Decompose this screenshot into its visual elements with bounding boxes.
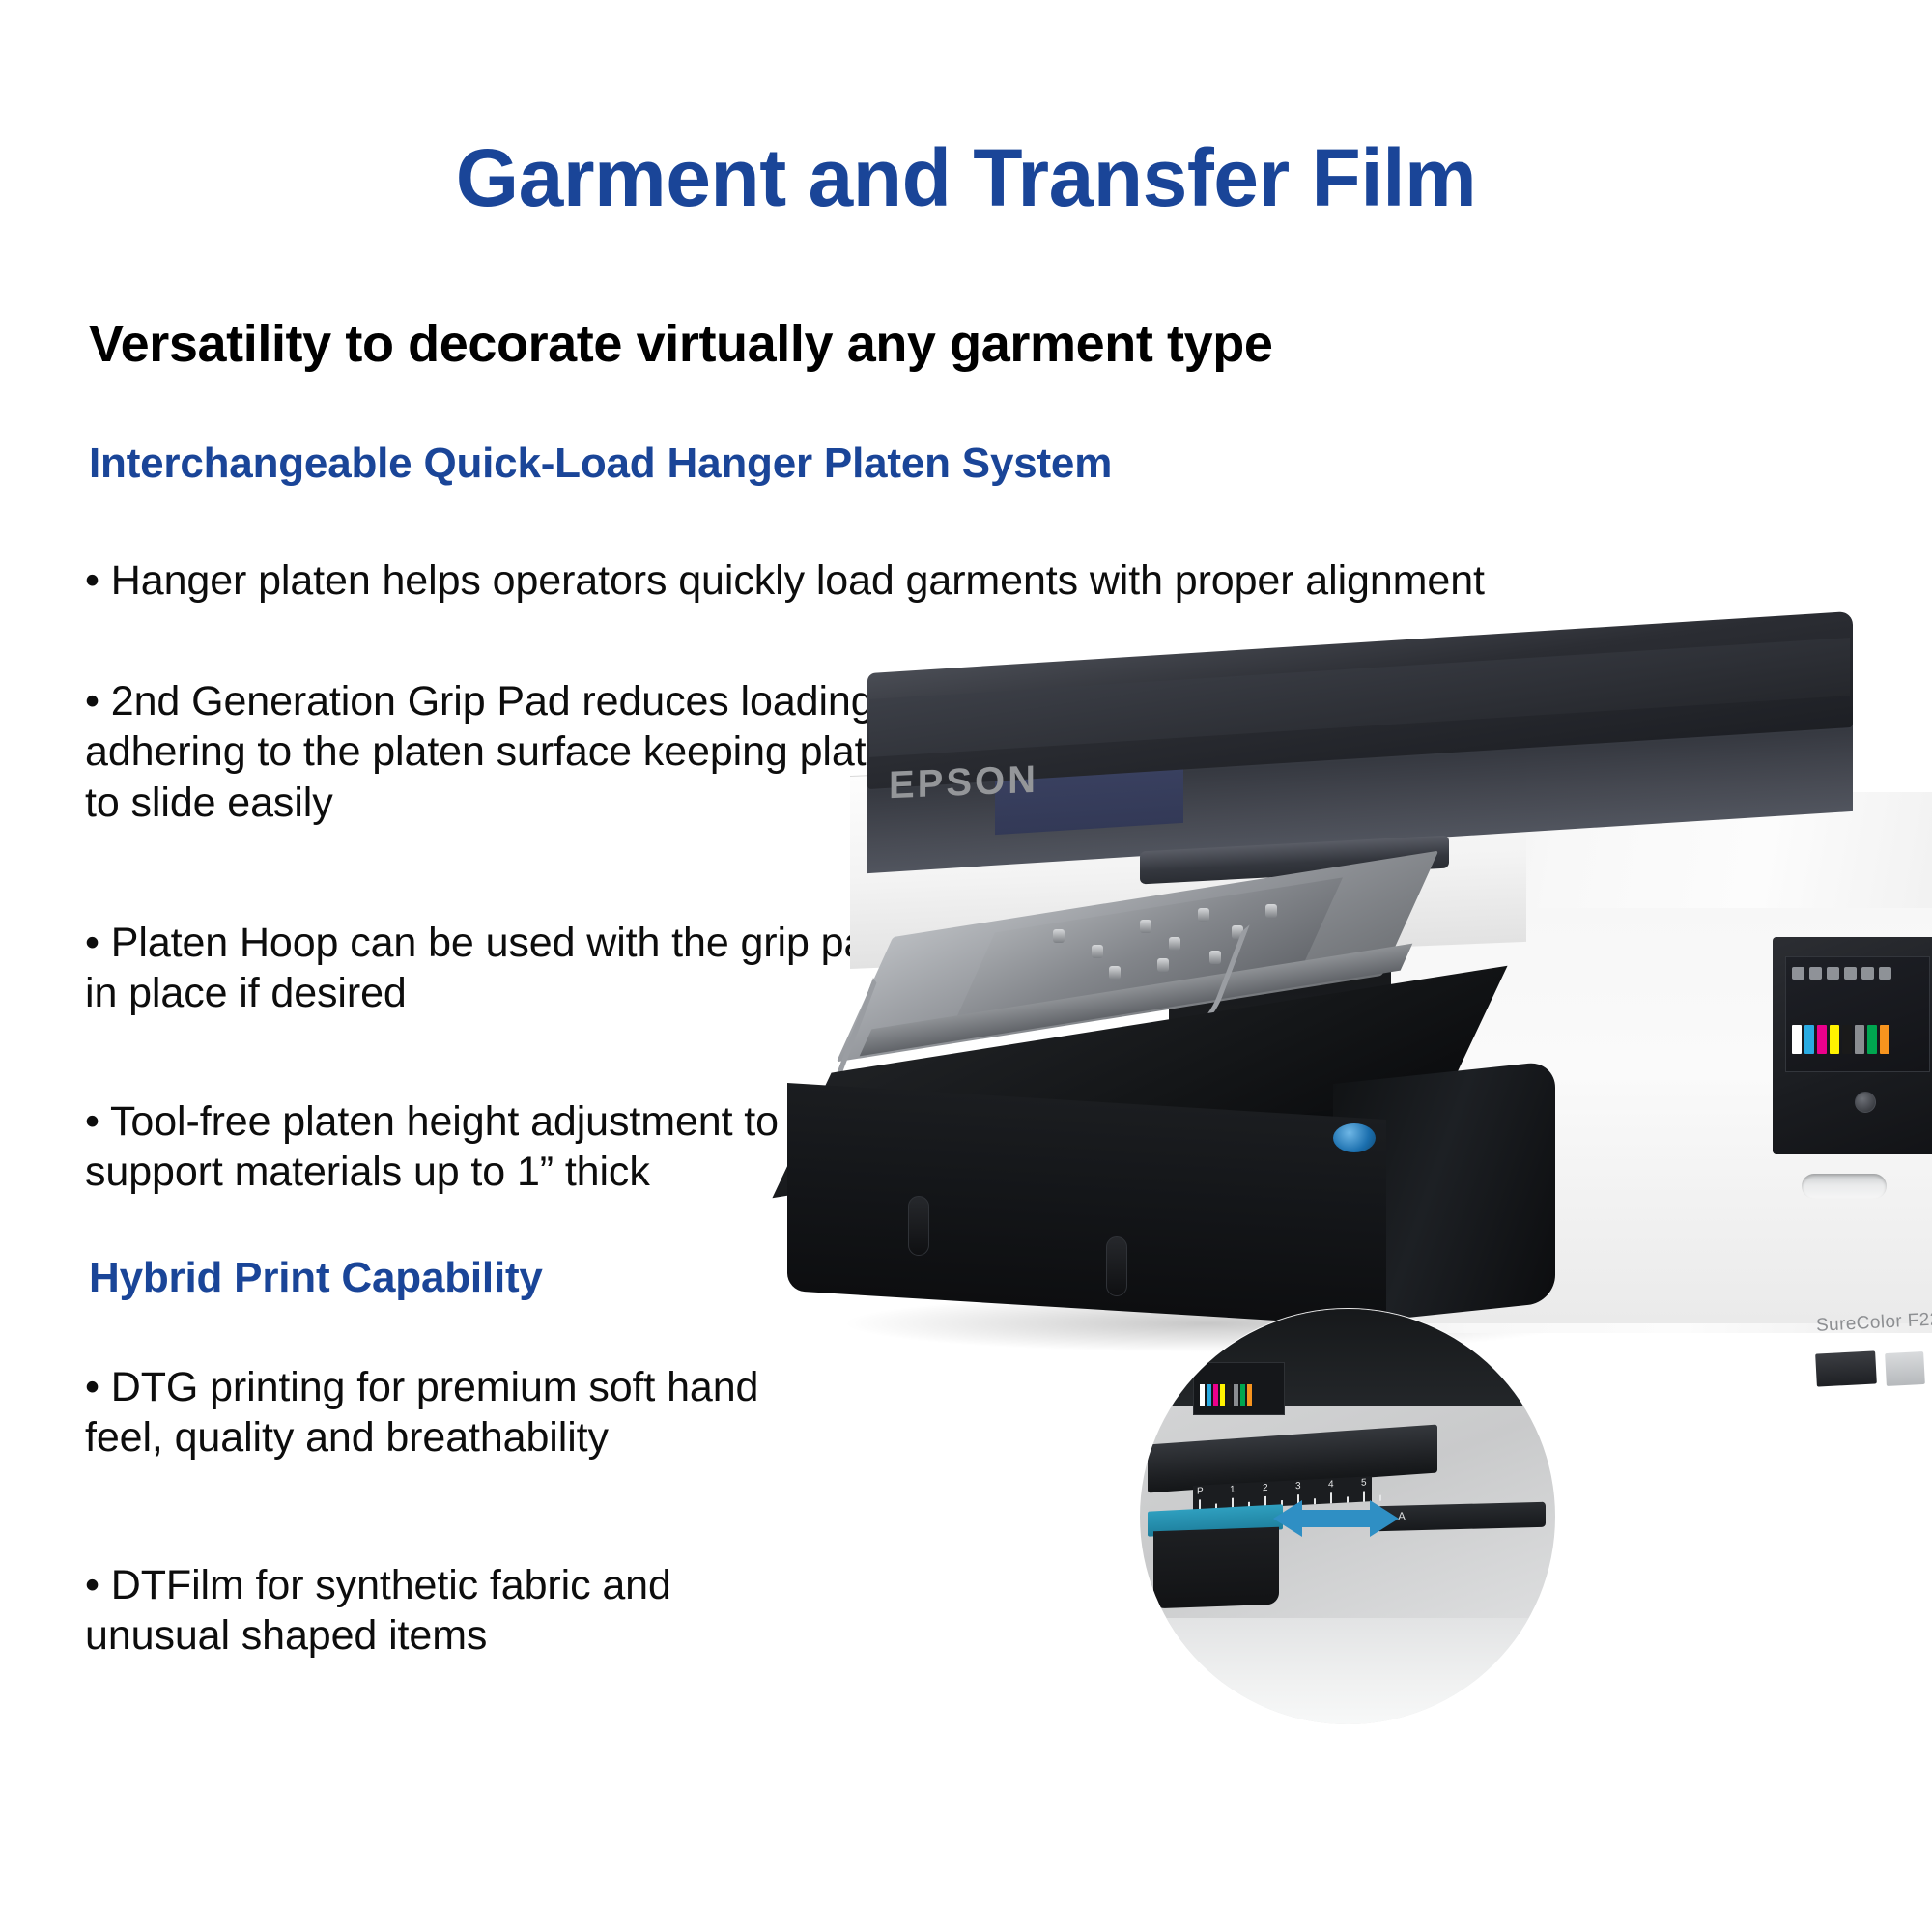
bullet-grip-pad: • 2nd Generation Grip Pad reduces loadin… — [85, 676, 1341, 828]
scale-tick — [1264, 1496, 1266, 1507]
inset-platen-plate — [1148, 1425, 1437, 1493]
ink-level-bar — [1207, 1384, 1211, 1406]
scale-label: 5 — [1361, 1477, 1367, 1488]
bullet-line: • Hanger platen helps operators quickly … — [85, 555, 1457, 606]
panel-icon — [1844, 967, 1857, 980]
certification-badge-b — [1885, 1351, 1925, 1386]
bullet-line: support materials up to 1” thick — [85, 1147, 1051, 1197]
panel-icon — [1792, 967, 1804, 980]
platen-height-detail-inset: P12345 A — [1140, 1309, 1555, 1724]
ink-level-bar — [1804, 1025, 1814, 1054]
bullet-line: • Tool-free platen height adjustment to — [85, 1096, 1051, 1147]
bullet-line: to slide easily — [85, 778, 1341, 828]
bullet-line: • Platen Hoop can be used with the grip … — [85, 918, 1109, 968]
panel-icon — [1861, 967, 1874, 980]
ink-level-bar — [1817, 1025, 1827, 1054]
inset-ink-bars — [1200, 1384, 1252, 1406]
bullet-height-adjustment: • Tool-free platen height adjustment to … — [85, 1096, 1051, 1198]
inset-platen-post — [1153, 1527, 1279, 1609]
bullet-line: in place if desired — [85, 968, 1109, 1018]
bullet-line: • DTG printing for premium soft hand — [85, 1362, 974, 1412]
printer-lid-handle[interactable] — [1140, 836, 1449, 885]
printer-model-label: SureColor F2270 — [1816, 1308, 1932, 1337]
printer-tray-right — [1333, 1061, 1555, 1325]
scale-tick — [1199, 1499, 1201, 1510]
floor-shadow — [840, 1294, 1575, 1352]
bullet-hanger-platen: • Hanger platen helps operators quickly … — [85, 555, 1457, 606]
section-heading-hybrid: Hybrid Print Capability — [89, 1254, 543, 1302]
inset-control-screen — [1193, 1362, 1285, 1415]
bullet-line: • DTFilm for synthetic fabric and — [85, 1560, 954, 1610]
scale-tick-minor — [1347, 1496, 1349, 1502]
inset-lever-label: A — [1398, 1510, 1406, 1523]
scale-tick-minor — [1379, 1495, 1381, 1501]
bullet-platen-hoop: • Platen Hoop can be used with the grip … — [85, 918, 1109, 1019]
bullet-dtfilm: • DTFilm for synthetic fabric and unusua… — [85, 1560, 954, 1662]
control-panel-touchscreen[interactable] — [1785, 956, 1930, 1072]
panel-icon — [1809, 967, 1822, 980]
inset-grip-pad — [1148, 1504, 1283, 1536]
ink-level-bar — [1842, 1025, 1852, 1054]
panel-icon — [1827, 967, 1839, 980]
ink-level-bar — [1855, 1025, 1864, 1054]
slide-canvas: Garment and Transfer Film Versatility to… — [0, 0, 1932, 1932]
control-panel-knob[interactable] — [1855, 1092, 1876, 1113]
platen-bolt — [1209, 951, 1221, 964]
inset-adjust-lever[interactable]: A — [1377, 1502, 1546, 1532]
ink-level-bar — [1830, 1025, 1839, 1054]
scale-label: P — [1197, 1486, 1204, 1496]
bullet-line: • 2nd Generation Grip Pad reduces loadin… — [85, 676, 1341, 726]
scale-label: 4 — [1328, 1479, 1334, 1490]
ink-level-bar — [1247, 1384, 1252, 1406]
scale-tick — [1363, 1492, 1365, 1502]
bullet-dtg-printing: • DTG printing for premium soft hand fee… — [85, 1362, 974, 1463]
scale-tick — [1330, 1492, 1332, 1503]
inset-height-scale: P12345 — [1193, 1476, 1372, 1511]
panel-icon — [1879, 967, 1891, 980]
ink-level-bar — [1880, 1025, 1889, 1054]
platen-height-knob[interactable] — [1333, 1123, 1376, 1152]
bullet-line: unusual shaped items — [85, 1610, 954, 1661]
ink-level-bar — [1213, 1384, 1218, 1406]
platen-bolt — [1169, 937, 1180, 951]
scale-tick — [1297, 1494, 1299, 1505]
ink-level-bar — [1227, 1384, 1232, 1406]
ink-level-indicators — [1792, 1021, 1908, 1054]
printer-body-right-lower — [1391, 908, 1932, 1323]
scale-tick-minor — [1314, 1498, 1316, 1504]
ink-level-bar — [1234, 1384, 1238, 1406]
scale-label: 3 — [1295, 1481, 1301, 1492]
scale-label: 2 — [1263, 1483, 1268, 1493]
ink-level-bar — [1200, 1384, 1205, 1406]
inset-floor — [1140, 1618, 1555, 1724]
scale-tick-minor — [1248, 1502, 1250, 1508]
scale-label: 1 — [1230, 1485, 1236, 1495]
inset-dark-top — [1140, 1309, 1555, 1406]
printer-body-right-panel — [1391, 792, 1932, 1333]
bullet-line: adhering to the platen surface keeping p… — [85, 726, 1341, 777]
bullet-line: feel, quality and breathability — [85, 1412, 974, 1463]
ink-level-bar — [1220, 1384, 1225, 1406]
section-heading-platen: Interchangeable Quick-Load Hanger Platen… — [89, 440, 1112, 488]
platen-bolt — [1265, 904, 1277, 918]
scale-tick — [1232, 1498, 1234, 1509]
page-subtitle: Versatility to decorate virtually any ga… — [89, 314, 1272, 374]
tray-latch[interactable] — [908, 1196, 929, 1256]
platen-bolt — [1109, 966, 1121, 980]
scale-tick-minor — [1281, 1500, 1283, 1506]
platen-bolt — [1232, 925, 1243, 939]
platen-bolt — [1140, 920, 1151, 933]
ink-level-bar — [1867, 1025, 1877, 1054]
platen-bolt — [1198, 908, 1209, 922]
ink-drawer-handle[interactable] — [1802, 1174, 1887, 1199]
panel-status-icons — [1792, 963, 1925, 982]
ink-level-bar — [1792, 1025, 1802, 1054]
scale-tick-minor — [1215, 1504, 1217, 1510]
printer-interior-cavity — [1169, 840, 1845, 1130]
tray-latch[interactable] — [1106, 1236, 1127, 1296]
certification-badge-a — [1815, 1350, 1877, 1386]
control-panel-housing — [1773, 937, 1932, 1154]
ink-level-bar — [1240, 1384, 1245, 1406]
height-adjust-arrow-icon — [1273, 1498, 1399, 1539]
platen-bolt — [1157, 958, 1169, 972]
page-title: Garment and Transfer Film — [0, 135, 1932, 220]
